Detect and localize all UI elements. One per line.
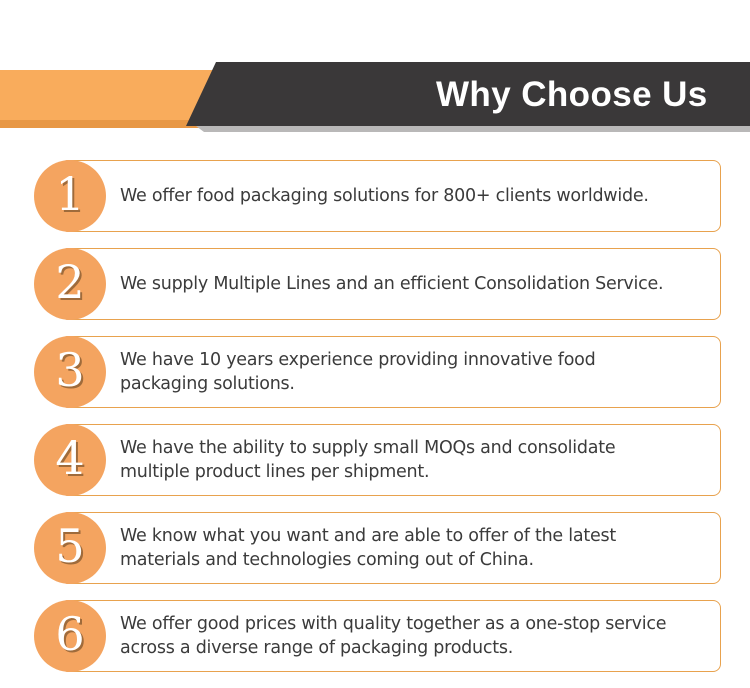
list-item: We know what you want and are able to of… xyxy=(0,512,750,588)
list-item-text: We supply Multiple Lines and an efficien… xyxy=(120,248,710,320)
list-item-line: We know what you want and are able to of… xyxy=(120,524,710,548)
list-item: We offer good prices with quality togeth… xyxy=(0,600,750,676)
page-title: Why Choose Us xyxy=(436,73,708,117)
list-item-number-badge: 5 xyxy=(34,512,106,584)
list-item-line: We supply Multiple Lines and an efficien… xyxy=(120,272,710,296)
list-item-number: 5 xyxy=(55,523,84,573)
list-item-line: packaging solutions. xyxy=(120,372,710,396)
list-item-line: We have the ability to supply small MOQs… xyxy=(120,436,710,460)
list-item-number-badge: 2 xyxy=(34,248,106,320)
list-item-line: multiple product lines per shipment. xyxy=(120,460,710,484)
list-item-number: 6 xyxy=(55,611,84,661)
list-item-line: We offer food packaging solutions for 80… xyxy=(120,184,710,208)
banner-drop-shadow xyxy=(196,126,750,132)
list-item-line: We have 10 years experience providing in… xyxy=(120,348,710,372)
list-item-text: We offer good prices with quality togeth… xyxy=(120,600,710,672)
reasons-list: We offer food packaging solutions for 80… xyxy=(0,160,750,688)
list-item-number: 3 xyxy=(55,347,84,397)
list-item-number-badge: 3 xyxy=(34,336,106,408)
list-item-number: 1 xyxy=(55,171,84,221)
list-item-text: We offer food packaging solutions for 80… xyxy=(120,160,710,232)
list-item-line: We offer good prices with quality togeth… xyxy=(120,612,710,636)
list-item: We offer food packaging solutions for 80… xyxy=(0,160,750,236)
list-item-number-badge: 6 xyxy=(34,600,106,672)
list-item: We supply Multiple Lines and an efficien… xyxy=(0,248,750,324)
list-item-number-badge: 4 xyxy=(34,424,106,496)
banner-dark-slab: Why Choose Us xyxy=(186,62,750,126)
header-banner: Why Choose Us xyxy=(0,62,750,136)
list-item-number: 2 xyxy=(55,259,84,309)
list-item-text: We have the ability to supply small MOQs… xyxy=(120,424,710,496)
list-item: We have 10 years experience providing in… xyxy=(0,336,750,412)
list-item: We have the ability to supply small MOQs… xyxy=(0,424,750,500)
list-item-line: materials and technologies coming out of… xyxy=(120,548,710,572)
list-item-number-badge: 1 xyxy=(34,160,106,232)
list-item-number: 4 xyxy=(55,435,84,485)
list-item-text: We have 10 years experience providing in… xyxy=(120,336,710,408)
list-item-text: We know what you want and are able to of… xyxy=(120,512,710,584)
list-item-line: across a diverse range of packaging prod… xyxy=(120,636,710,660)
